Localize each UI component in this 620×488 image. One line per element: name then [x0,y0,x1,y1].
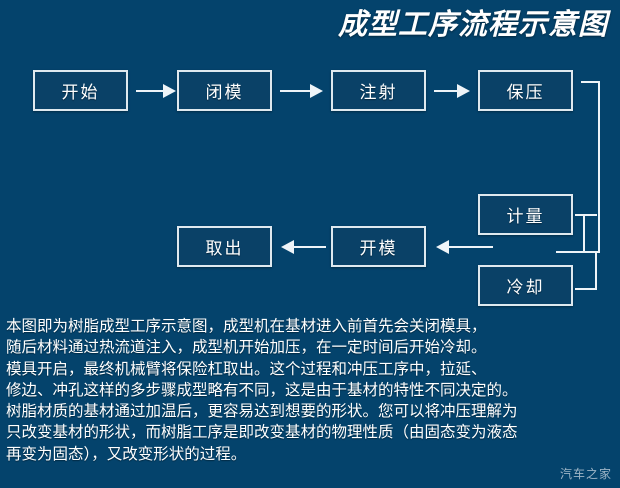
flow-node-eject[interactable]: 取出 [177,226,272,267]
flow-node-openmold[interactable]: 开模 [331,226,426,267]
flow-node-start[interactable]: 开始 [33,70,128,111]
connector-holdpressure-to-junction [556,251,600,253]
flow-node-label: 冷却 [507,273,545,298]
description-line: 树脂材质的基材通过加温后，更容易达到想要的形状。您可以将冲压理解为 [6,401,618,422]
flow-node-label: 注射 [360,78,398,103]
description-line: 再变为固态），又改变形状的过程。 [6,444,618,465]
flow-node-label: 计量 [507,202,545,227]
arrow-head-icon [457,84,470,98]
connector-closemold-to-inject [280,90,313,92]
arrow-head-icon [281,240,294,254]
flow-node-label: 开模 [360,234,398,259]
flow-node-closemold[interactable]: 闭模 [177,70,272,111]
flow-node-metering[interactable]: 计量 [478,194,573,235]
arrow-head-icon [163,84,176,98]
infographic-root: 成型工序流程示意图 开始 闭模 注射 保压 计量 冷却 开模 取出 [0,0,620,488]
connector-metering-out-2 [575,214,597,216]
flow-node-label: 取出 [206,234,244,259]
connector-cooling-out [575,288,597,290]
flow-node-cooling[interactable]: 冷却 [478,265,573,306]
description-line: 随后材料通过热流道注入，成型机开始加压，在一定时间后开始冷却。 [6,337,618,358]
description-line: 本图即为树脂成型工序示意图，成型机在基材进入前首先会关闭模具， [6,316,618,337]
connector-openmold-to-eject [293,246,326,248]
description-line: 修边、冲孔这样的多步骤成型略有不同，这是由于基材的特性不同决定的。 [6,380,618,401]
connector-junction-to-openmold [448,246,493,248]
arrow-head-icon [310,84,323,98]
flow-node-label: 保压 [507,78,545,103]
flow-node-label: 闭模 [206,78,244,103]
arrow-head-icon [436,240,449,254]
flow-node-holdpressure[interactable]: 保压 [478,70,573,111]
description-line: 模具开启，最终机械臂将保险杠取出。这个过程和冲压工序中，拉延、 [6,359,618,380]
connector-start-to-closemold [136,90,166,92]
connector-cooling-up [595,251,597,290]
connector-metering-down [583,214,585,252]
connector-holdpressure-down [598,81,600,253]
flow-node-inject[interactable]: 注射 [331,70,426,111]
description-text: 本图即为树脂成型工序示意图，成型机在基材进入前首先会关闭模具， 随后材料通过热流… [6,316,618,465]
description-line: 只改变基材的形状，而树脂工序是即改变基材的物理性质（由固态变为液态 [6,422,618,443]
flowchart: 开始 闭模 注射 保压 计量 冷却 开模 取出 [0,0,620,305]
watermark: 汽车之家 [560,465,612,482]
flow-node-label: 开始 [62,78,100,103]
